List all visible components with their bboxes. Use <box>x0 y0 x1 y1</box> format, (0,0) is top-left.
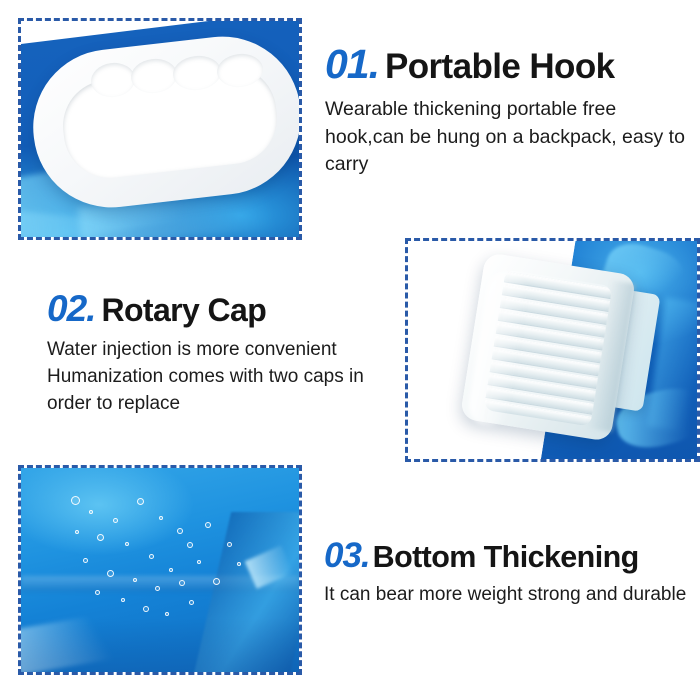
water-bubble-1 <box>71 496 80 505</box>
feature-heading-bottom-thickening: 03. Bottom Thickening <box>324 538 696 573</box>
feature-photo-portable-hook <box>18 18 302 240</box>
water-bubble-23 <box>189 600 194 605</box>
water-bubble-10 <box>169 568 173 572</box>
water-bubble-16 <box>155 586 160 591</box>
feature-photo-bottom-thickening <box>18 465 302 675</box>
product-feature-infographic: 01. Portable Hook Wearable thickening po… <box>0 0 700 700</box>
water-bubble-18 <box>197 560 201 564</box>
water-bubble-14 <box>107 570 114 577</box>
feature-text-bottom-thickening: 03. Bottom Thickening It can bear more w… <box>324 538 696 609</box>
cap-photo-content <box>408 241 697 459</box>
water-bubble-26 <box>227 542 232 547</box>
water-bubble-7 <box>97 534 104 541</box>
water-bubble-15 <box>133 578 137 582</box>
feature-heading-rotary-cap: 02. Rotary Cap <box>47 290 397 327</box>
water-bubble-12 <box>205 522 211 528</box>
water-bubble-2 <box>89 510 93 514</box>
hook-photo-content <box>21 21 299 237</box>
bottom-photo-content <box>21 468 299 672</box>
feature-number-01: 01. <box>325 44 379 85</box>
water-bubble-21 <box>143 606 149 612</box>
feature-photo-rotary-cap <box>405 238 700 462</box>
water-bubble-5 <box>159 516 163 520</box>
water-bubble-4 <box>137 498 144 505</box>
water-bubble-11 <box>187 542 193 548</box>
feature-heading-portable-hook: 01. Portable Hook <box>325 44 693 85</box>
water-bubble-9 <box>149 554 154 559</box>
water-bubble-17 <box>179 580 185 586</box>
water-bubble-3 <box>113 518 118 523</box>
feature-title-01: Portable Hook <box>385 49 614 84</box>
feature-title-03: Bottom Thickening <box>373 542 639 573</box>
water-bubble-27 <box>237 562 241 566</box>
water-bubble-13 <box>83 558 88 563</box>
water-bubble-25 <box>75 530 79 534</box>
feature-description-03: It can bear more weight strong and durab… <box>324 582 696 609</box>
water-bubble-20 <box>121 598 125 602</box>
water-bubble-6 <box>177 528 183 534</box>
feature-text-rotary-cap: 02. Rotary Cap Water injection is more c… <box>47 290 397 418</box>
feature-number-02: 02. <box>47 290 95 327</box>
feature-text-portable-hook: 01. Portable Hook Wearable thickening po… <box>325 44 693 179</box>
bottom-bag-base-shading <box>21 618 299 672</box>
feature-description-02: Water injection is more convenient Human… <box>47 337 397 418</box>
water-bubble-22 <box>165 612 169 616</box>
water-bubble-19 <box>95 590 100 595</box>
feature-description-01: Wearable thickening portable free hook,c… <box>325 96 693 179</box>
water-bubble-24 <box>213 578 220 585</box>
feature-number-03: 03. <box>324 538 370 573</box>
feature-title-02: Rotary Cap <box>101 294 266 326</box>
water-bubble-8 <box>125 542 129 546</box>
